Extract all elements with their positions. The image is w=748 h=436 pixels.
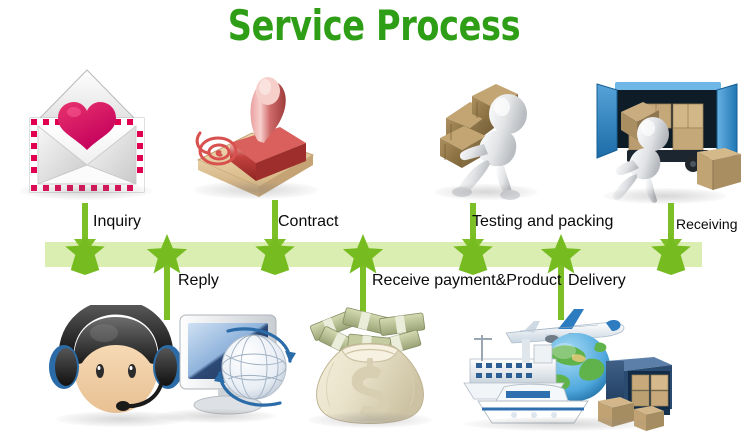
- rubber-stamp-icon: [180, 55, 330, 205]
- service-process-infographic: Service Process: [0, 0, 748, 436]
- customer-service-icon: [46, 305, 296, 430]
- timeline-label-delivery: Delivery: [568, 272, 626, 290]
- timeline-label-reply: Reply: [178, 272, 219, 290]
- timeline-label-contract: Contract: [278, 213, 338, 231]
- page-title: Service Process: [75, 2, 673, 50]
- timeline-label-testing-and-packing: Testing and packing: [472, 213, 613, 231]
- timeline-label-receive-payment-product: Receive payment&Product: [372, 272, 561, 290]
- timeline-label-receiving: Receiving: [676, 215, 737, 233]
- timeline-label-inquiry: Inquiry: [93, 213, 141, 231]
- worker-carrying-boxes-icon: [420, 62, 550, 202]
- global-shipping-icon: [448, 305, 678, 433]
- money-bag-icon: [300, 300, 440, 430]
- envelope-heart-icon: [14, 62, 160, 202]
- truck-unloading-icon: [585, 70, 745, 205]
